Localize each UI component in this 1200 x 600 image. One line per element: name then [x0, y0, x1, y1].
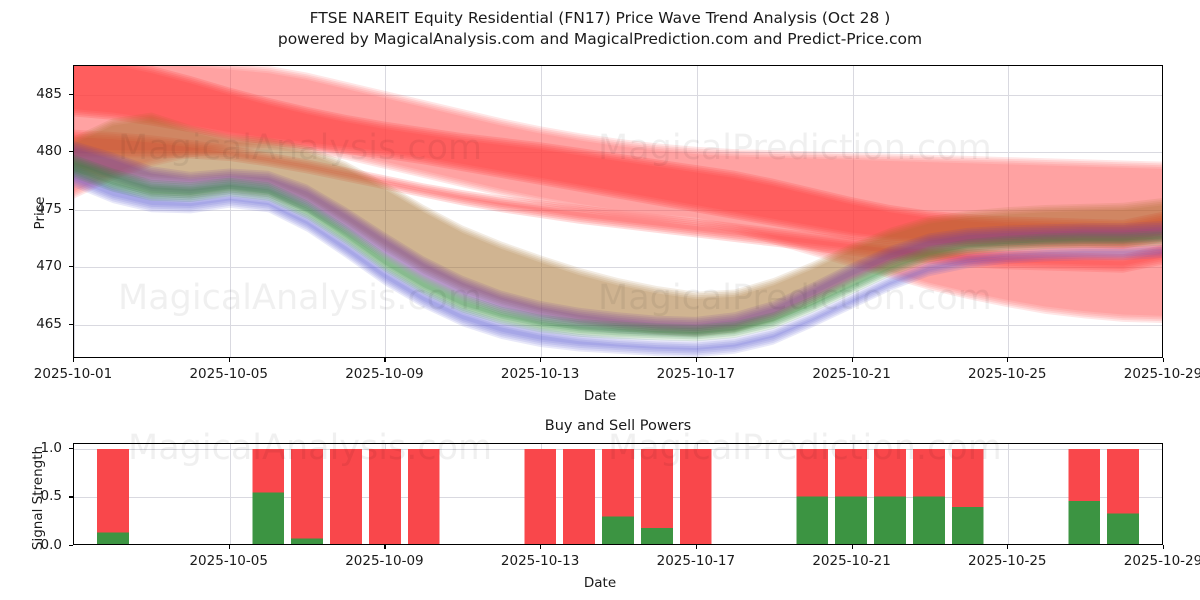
sell-power-bar[interactable]: [1068, 449, 1100, 501]
bars-x-tick-mark-2025-10-05: [229, 545, 230, 549]
x-tick-mark-2025-10-13: [540, 358, 541, 362]
sell-power-bar[interactable]: [913, 449, 945, 497]
sell-power-bar[interactable]: [680, 449, 712, 544]
chart-title-line-1: FTSE NAREIT Equity Residential (FN17) Pr…: [0, 8, 1200, 29]
x-tick-mark-2025-10-25: [1007, 358, 1008, 362]
bar-group[interactable]: [291, 449, 323, 544]
bars-x-tick-label-2025-10-29: 2025-10-29: [1124, 553, 1200, 569]
chart-page: FTSE NAREIT Equity Residential (FN17) Pr…: [0, 0, 1200, 600]
sell-power-bar[interactable]: [1107, 449, 1139, 514]
bar-group[interactable]: [369, 449, 401, 544]
x-tick-mark-2025-10-01: [73, 358, 74, 362]
y-tick-label-485: 485: [0, 86, 62, 102]
buy-power-bar[interactable]: [291, 538, 323, 544]
x-tick-label-2025-10-21: 2025-10-21: [812, 366, 890, 382]
bars-x-tick-label-2025-10-21: 2025-10-21: [812, 553, 890, 569]
bars-subplot-title: Buy and Sell Powers: [73, 418, 1163, 434]
bars-x-tick-mark-2025-10-17: [696, 545, 697, 549]
price-wave-bands: [74, 66, 1162, 357]
sell-power-bar[interactable]: [835, 449, 867, 497]
bar-group[interactable]: [835, 449, 867, 544]
sell-power-bar[interactable]: [641, 449, 673, 528]
bars-x-tick-label-2025-10-25: 2025-10-25: [968, 553, 1046, 569]
bar-group[interactable]: [97, 449, 129, 544]
bar-group[interactable]: [796, 449, 828, 544]
sell-power-bar[interactable]: [874, 449, 906, 497]
x-tick-mark-2025-10-05: [229, 358, 230, 362]
bar-group[interactable]: [641, 449, 673, 544]
buy-power-bar[interactable]: [641, 528, 673, 544]
bar-group[interactable]: [1068, 449, 1100, 544]
y-tick-mark-485: [69, 94, 73, 95]
sell-power-bar[interactable]: [408, 449, 440, 544]
x-tick-mark-2025-10-21: [852, 358, 853, 362]
buy-sell-powers-plot-area: [73, 443, 1163, 545]
bar-group[interactable]: [330, 449, 362, 544]
bar-group[interactable]: [408, 449, 440, 544]
bars-x-tick-mark-2025-10-09: [384, 545, 385, 549]
bars-x-tick-mark-2025-10-13: [540, 545, 541, 549]
bar-group[interactable]: [952, 449, 984, 544]
buy-sell-bars: [74, 444, 1162, 544]
x-tick-label-2025-10-29: 2025-10-29: [1124, 366, 1200, 382]
bars-x-tick-label-2025-10-13: 2025-10-13: [501, 553, 579, 569]
sell-power-bar[interactable]: [952, 449, 984, 507]
bars-x-tick-mark-2025-10-25: [1007, 545, 1008, 549]
x-tick-label-2025-10-05: 2025-10-05: [189, 366, 267, 382]
y-tick-label-470: 470: [0, 258, 62, 274]
buy-power-bar[interactable]: [874, 496, 906, 544]
bars-x-tick-label-2025-10-05: 2025-10-05: [189, 553, 267, 569]
buy-power-bar[interactable]: [835, 496, 867, 544]
x-tick-label-2025-10-01: 2025-10-01: [34, 366, 112, 382]
bars-y-tick-mark-0.0: [69, 545, 73, 546]
bar-group[interactable]: [524, 449, 556, 544]
y-tick-label-480: 480: [0, 143, 62, 159]
chart-title-block: FTSE NAREIT Equity Residential (FN17) Pr…: [0, 8, 1200, 50]
buy-power-bar[interactable]: [952, 507, 984, 544]
bar-group[interactable]: [1107, 449, 1139, 544]
sell-power-bar[interactable]: [252, 449, 284, 493]
y-tick-mark-470: [69, 266, 73, 267]
x-tick-mark-2025-10-17: [696, 358, 697, 362]
x-tick-label-2025-10-09: 2025-10-09: [345, 366, 423, 382]
bars-x-tick-label-2025-10-09: 2025-10-09: [345, 553, 423, 569]
buy-power-bar[interactable]: [602, 516, 634, 544]
x-tick-mark-2025-10-09: [384, 358, 385, 362]
buy-power-bar[interactable]: [97, 533, 129, 544]
y-tick-label-465: 465: [0, 316, 62, 332]
bars-y-tick-mark-1.0: [69, 448, 73, 449]
price-wave-plot-area: [73, 65, 1163, 358]
x-tick-label-2025-10-17: 2025-10-17: [657, 366, 735, 382]
bar-group[interactable]: [874, 449, 906, 544]
bar-group[interactable]: [602, 449, 634, 544]
buy-power-bar[interactable]: [252, 493, 284, 544]
bars-y-tick-mark-0.5: [69, 496, 73, 497]
sell-power-bar[interactable]: [524, 449, 556, 544]
bars-x-axis-label: Date: [0, 575, 1200, 591]
sell-power-bar[interactable]: [796, 449, 828, 497]
bar-group[interactable]: [563, 449, 595, 544]
y-tick-mark-480: [69, 151, 73, 152]
sell-power-bar[interactable]: [369, 449, 401, 544]
sell-power-bar[interactable]: [97, 449, 129, 533]
buy-power-bar[interactable]: [796, 496, 828, 544]
sell-power-bar[interactable]: [330, 449, 362, 544]
x-tick-label-2025-10-25: 2025-10-25: [968, 366, 1046, 382]
sell-power-bar[interactable]: [602, 449, 634, 517]
x-tick-mark-2025-10-29: [1163, 358, 1164, 362]
main-x-axis-label: Date: [0, 388, 1200, 404]
buy-power-bar[interactable]: [913, 496, 945, 544]
bar-group[interactable]: [913, 449, 945, 544]
bar-group[interactable]: [252, 449, 284, 544]
x-tick-label-2025-10-13: 2025-10-13: [501, 366, 579, 382]
bars-y-axis-label: Signal Strength: [30, 418, 46, 578]
buy-power-bar[interactable]: [1107, 514, 1139, 544]
main-y-axis-label: Price: [32, 168, 48, 258]
chart-title-line-2: powered by MagicalAnalysis.com and Magic…: [0, 29, 1200, 50]
y-tick-mark-465: [69, 324, 73, 325]
buy-power-bar[interactable]: [1068, 501, 1100, 544]
bars-x-tick-mark-2025-10-21: [852, 545, 853, 549]
sell-power-bar[interactable]: [291, 449, 323, 539]
sell-power-bar[interactable]: [563, 449, 595, 544]
bar-group[interactable]: [680, 449, 712, 544]
y-tick-mark-475: [69, 209, 73, 210]
bars-x-tick-mark-2025-10-29: [1163, 545, 1164, 549]
bars-x-tick-label-2025-10-17: 2025-10-17: [657, 553, 735, 569]
y-tick-label-475: 475: [0, 201, 62, 217]
